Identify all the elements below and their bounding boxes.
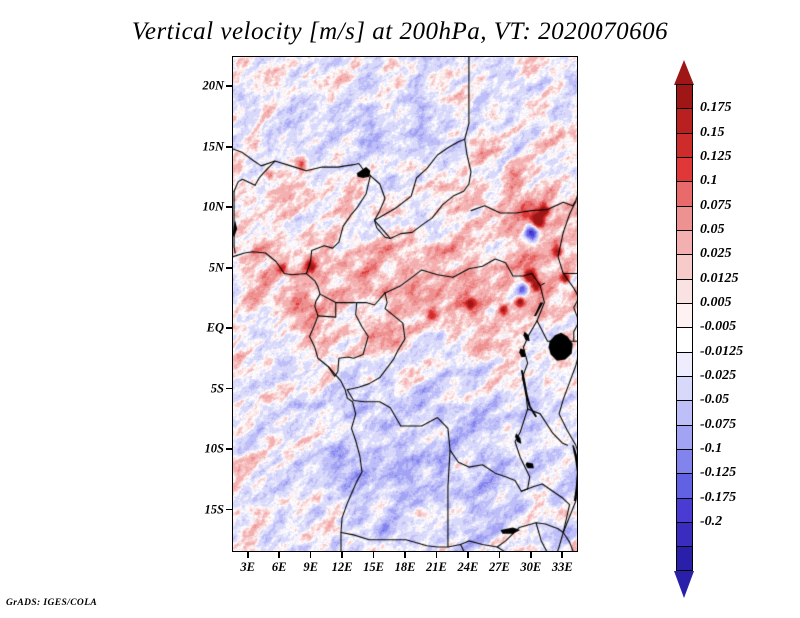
- colorbar-swatch: [676, 108, 693, 132]
- x-axis-tick: [373, 552, 375, 558]
- colorbar-tick-label: -0.0125: [700, 344, 743, 360]
- x-axis-tick: [530, 552, 532, 558]
- y-axis-label: 5S: [186, 381, 224, 396]
- colorbar-swatch: [676, 206, 693, 230]
- colorbar-tick-label: 0.125: [700, 149, 732, 165]
- colorbar-tick-label: -0.005: [700, 319, 736, 335]
- colorbar-tick-label: 0.175: [700, 100, 732, 116]
- colorbar-min-arrow: [674, 571, 694, 598]
- x-axis-tick: [436, 552, 438, 558]
- y-axis-tick: [226, 327, 232, 329]
- y-axis-label: 20N: [186, 79, 224, 94]
- colorbar-tick-label: 0.005: [700, 295, 732, 311]
- x-axis-tick: [310, 552, 312, 558]
- x-axis-tick: [404, 552, 406, 558]
- colorbar-swatch: [676, 133, 693, 157]
- colorbar-tick-label: -0.075: [700, 417, 736, 433]
- colorbar-scale: [676, 84, 693, 571]
- x-axis-label: 24E: [457, 560, 478, 575]
- x-axis-label: 33E: [552, 560, 573, 575]
- colorbar-tick-label: -0.125: [700, 465, 736, 481]
- y-axis-tick: [226, 509, 232, 511]
- colorbar-swatch: [676, 498, 693, 522]
- colorbar-tick-label: -0.1: [700, 441, 722, 457]
- x-axis-tick: [341, 552, 343, 558]
- colorbar-max-arrow: [674, 60, 694, 85]
- colorbar-tick-label: -0.05: [700, 392, 729, 408]
- x-axis-tick: [247, 552, 249, 558]
- y-axis-tick: [226, 267, 232, 269]
- y-axis-tick: [226, 448, 232, 450]
- y-axis-tick: [226, 206, 232, 208]
- y-axis-label: 10S: [186, 442, 224, 457]
- colorbar-swatch: [676, 473, 693, 497]
- colorbar-swatch: [676, 254, 693, 278]
- x-axis-tick: [561, 552, 563, 558]
- colorbar-tick-label: 0.075: [700, 198, 732, 214]
- colorbar-swatch: [676, 546, 693, 570]
- colorbar-swatch: [676, 449, 693, 473]
- colorbar-swatch: [676, 327, 693, 351]
- colorbar-tick-label: 0.1: [700, 173, 718, 189]
- colorbar-swatch: [676, 181, 693, 205]
- y-axis-label: EQ: [186, 321, 224, 336]
- colorbar-swatch: [676, 303, 693, 327]
- country-borders-overlay: [233, 57, 578, 552]
- x-axis-label: 21E: [426, 560, 447, 575]
- x-axis-tick: [467, 552, 469, 558]
- plot-root: Vertical velocity [m/s] at 200hPa, VT: 2…: [0, 0, 800, 618]
- grads-attribution: GrADS: IGES/COLA: [6, 598, 97, 608]
- page-title: Vertical velocity [m/s] at 200hPa, VT: 2…: [0, 18, 800, 46]
- colorbar-tick-label: 0.025: [700, 246, 732, 262]
- colorbar-tick-label: -0.025: [700, 368, 736, 384]
- colorbar-swatch: [676, 352, 693, 376]
- x-axis-label: 3E: [240, 560, 255, 575]
- x-axis-label: 18E: [395, 560, 416, 575]
- colorbar-swatch: [676, 400, 693, 424]
- colorbar-tick-label: 0.15: [700, 125, 725, 141]
- colorbar-swatch: [676, 84, 693, 108]
- map-plot-area: [232, 56, 578, 552]
- y-axis-tick: [226, 388, 232, 390]
- x-axis-label: 9E: [303, 560, 318, 575]
- colorbar-tick-label: 0.0125: [700, 271, 739, 287]
- x-axis-label: 30E: [520, 560, 541, 575]
- y-axis-label: 15S: [186, 502, 224, 517]
- colorbar-tick-label: -0.2: [700, 514, 722, 530]
- colorbar-swatch: [676, 157, 693, 181]
- y-axis-tick: [226, 85, 232, 87]
- colorbar-swatch: [676, 376, 693, 400]
- x-axis-tick: [278, 552, 280, 558]
- x-axis-label: 27E: [489, 560, 510, 575]
- x-axis-tick: [499, 552, 501, 558]
- y-axis-label: 10N: [186, 200, 224, 215]
- x-axis-label: 15E: [363, 560, 384, 575]
- y-axis-tick: [226, 146, 232, 148]
- colorbar-swatch: [676, 425, 693, 449]
- colorbar-swatch: [676, 230, 693, 254]
- x-axis-label: 12E: [332, 560, 353, 575]
- colorbar-tick-label: -0.175: [700, 490, 736, 506]
- y-axis-label: 15N: [186, 139, 224, 154]
- colorbar-tick-label: 0.05: [700, 222, 725, 238]
- y-axis-label: 5N: [186, 260, 224, 275]
- x-axis-label: 6E: [272, 560, 287, 575]
- colorbar-swatch: [676, 279, 693, 303]
- colorbar-swatch: [676, 522, 693, 546]
